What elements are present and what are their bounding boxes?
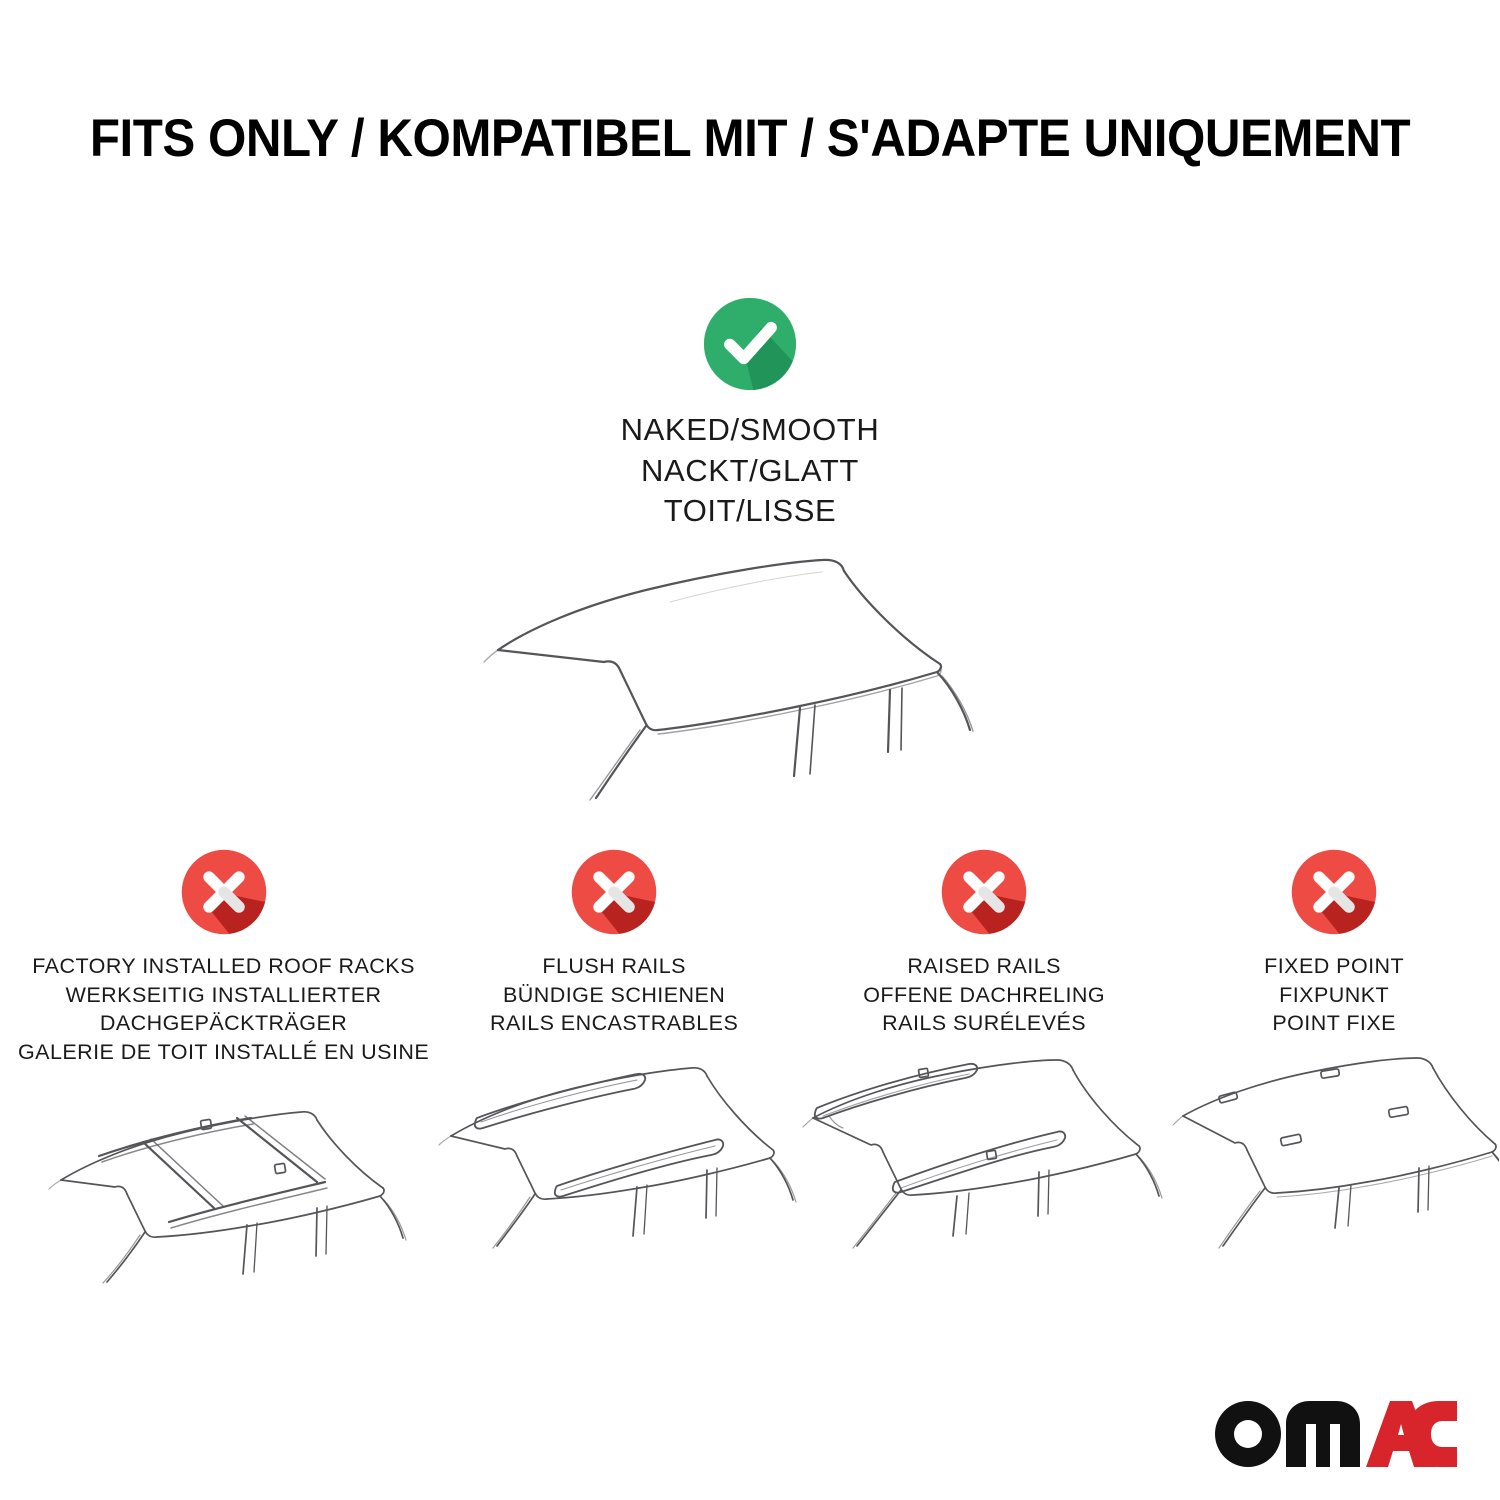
not-compatible-section: FACTORY INSTALLED ROOF RACKS WERKSEITIG … [0, 848, 1500, 1284]
red-cross-circle-icon [1290, 848, 1378, 936]
item-label-line-1: FIXED POINT [1264, 952, 1404, 981]
naked-smooth-roof-illustration [470, 542, 1030, 802]
compatible-section: NAKED/SMOOTH NACKT/GLATT TOIT/LISSE [0, 296, 1500, 802]
item-label: RAISED RAILS OFFENE DACHRELING RAILS SUR… [863, 952, 1105, 1038]
item-label-line-2: OFFENE DACHRELING [863, 981, 1105, 1010]
compatible-label-line-2: NACKT/GLATT [621, 451, 880, 492]
red-cross-circle-icon [180, 848, 268, 936]
fitment-infographic: FITS ONLY / KOMPATIBEL MIT / S'ADAPTE UN… [0, 0, 1500, 1500]
omac-logo [1210, 1388, 1460, 1480]
item-label-line-3: RAILS SURÉLEVÉS [863, 1009, 1105, 1038]
compatible-label-line-1: NAKED/SMOOTH [621, 410, 880, 451]
compatible-label-line-3: TOIT/LISSE [621, 491, 880, 532]
flush-rails-illustration [429, 1056, 799, 1256]
item-label-line-4: GALERIE DE TOIT INSTALLÉ EN USINE [18, 1038, 429, 1067]
not-compatible-item-raised-rails: RAISED RAILS OFFENE DACHRELING RAILS SUR… [799, 848, 1169, 1256]
red-cross-circle-icon [570, 848, 658, 936]
logo-letter-o [1215, 1401, 1281, 1467]
logo-letter-m [1286, 1401, 1360, 1467]
compatible-label: NAKED/SMOOTH NACKT/GLATT TOIT/LISSE [621, 410, 880, 532]
item-label: FLUSH RAILS BÜNDIGE SCHIENEN RAILS ENCAS… [490, 952, 738, 1038]
not-compatible-item-flush-rails: FLUSH RAILS BÜNDIGE SCHIENEN RAILS ENCAS… [429, 848, 799, 1256]
item-label-line-3: RAILS ENCASTRABLES [490, 1009, 738, 1038]
item-label: FACTORY INSTALLED ROOF RACKS WERKSEITIG … [18, 952, 429, 1066]
factory-roof-rack-illustration [39, 1084, 409, 1284]
green-check-circle-icon [702, 296, 798, 392]
item-label-line-3: POINT FIXE [1264, 1009, 1404, 1038]
not-compatible-item-fixed-point: FIXED POINT FIXPUNKT POINT FIXE [1169, 848, 1499, 1256]
item-label-line-3: DACHGEPÄCKTRÄGER [18, 1009, 429, 1038]
item-label-line-2: WERKSEITIG INSTALLIERTER [18, 981, 429, 1010]
not-compatible-item-factory-installed-roof-racks: FACTORY INSTALLED ROOF RACKS WERKSEITIG … [18, 848, 429, 1284]
raised-rails-illustration [799, 1056, 1169, 1256]
page-title: FITS ONLY / KOMPATIBEL MIT / S'ADAPTE UN… [53, 108, 1448, 169]
item-label-line-2: FIXPUNKT [1264, 981, 1404, 1010]
item-label-line-1: FLUSH RAILS [490, 952, 738, 981]
item-label: FIXED POINT FIXPUNKT POINT FIXE [1264, 952, 1404, 1038]
item-label-line-2: BÜNDIGE SCHIENEN [490, 981, 738, 1010]
item-label-line-1: FACTORY INSTALLED ROOF RACKS [18, 952, 429, 981]
red-cross-circle-icon [940, 848, 1028, 936]
fixed-point-illustration [1169, 1056, 1499, 1256]
item-label-line-1: RAISED RAILS [863, 952, 1105, 981]
